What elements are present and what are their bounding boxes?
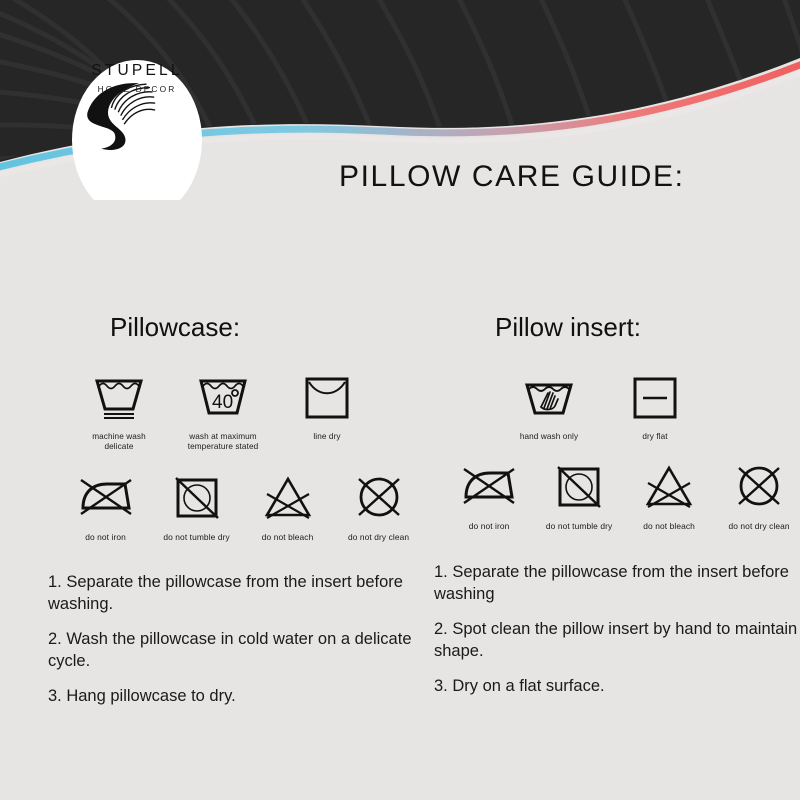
do-not-tumble-dry-icon xyxy=(552,463,606,509)
caption-do-not-iron: do not iron xyxy=(469,521,510,532)
caption-do-not-bleach: do not bleach xyxy=(643,521,695,532)
caption-hand-wash-only: hand wash only xyxy=(520,432,578,442)
do-not-tumble-dry-icon xyxy=(170,474,224,520)
do-not-iron-icon xyxy=(460,463,518,509)
page-title: PILLOW CARE GUIDE: xyxy=(339,160,685,194)
caption-do-not-tumble-dry: do not tumble dry xyxy=(546,521,612,532)
symbol-do-not-tumble-dry: do not tumble dry xyxy=(538,458,620,532)
symbol-do-not-bleach: do not bleach xyxy=(250,469,325,543)
symbol-do-not-iron: do not iron xyxy=(68,469,143,543)
step-item: 3. Hang pillowcase to dry. xyxy=(48,686,420,708)
step-item: 2. Wash the pillowcase in cold water on … xyxy=(48,629,420,673)
symbol-wash-40: 40 wash at maximumtemperature stated xyxy=(180,369,266,453)
pillow-insert-section: Pillow insert: xyxy=(430,312,800,710)
pillowcase-section: Pillowcase: machine washdelicate xyxy=(40,312,420,721)
do-not-bleach-icon xyxy=(642,463,696,509)
dry-flat-icon xyxy=(630,373,680,421)
section-heading-pillowcase: Pillowcase: xyxy=(40,312,420,343)
pillowcase-steps: 1. Separate the pillowcase from the inse… xyxy=(40,572,420,708)
caption-line-dry: line dry xyxy=(313,432,340,442)
symbol-do-not-tumble-dry: do not tumble dry xyxy=(155,469,238,543)
hand-wash-only-icon xyxy=(522,373,576,421)
pillow-insert-steps: 1. Separate the pillowcase from the inse… xyxy=(430,562,800,698)
do-not-bleach-icon xyxy=(261,474,315,520)
do-not-dry-clean-icon xyxy=(352,474,406,520)
symbol-do-not-bleach: do not bleach xyxy=(632,458,706,532)
svg-text:40: 40 xyxy=(212,392,233,413)
caption-do-not-tumble-dry: do not tumble dry xyxy=(163,532,229,543)
symbol-dry-flat: dry flat xyxy=(616,369,694,442)
caption-wash-40: wash at maximumtemperature stated xyxy=(188,432,259,453)
symbol-do-not-iron: do not iron xyxy=(452,458,526,532)
symbol-machine-wash-delicate: machine washdelicate xyxy=(80,369,158,453)
pillowcase-symbol-row-2: do not iron do not tumble dry xyxy=(40,469,420,543)
stupell-swoosh-logo-icon xyxy=(72,78,158,154)
caption-machine-wash-delicate: machine washdelicate xyxy=(92,432,146,453)
machine-wash-delicate-icon xyxy=(92,373,146,421)
insert-symbol-row-1: hand wash only dry flat xyxy=(430,369,800,442)
line-dry-icon xyxy=(302,373,352,421)
do-not-dry-clean-icon xyxy=(732,463,786,509)
symbol-line-dry: line dry xyxy=(288,369,366,442)
caption-dry-flat: dry flat xyxy=(642,432,667,442)
symbol-do-not-dry-clean: do not dry clean xyxy=(718,458,800,532)
symbol-hand-wash-only: hand wash only xyxy=(510,369,588,442)
wash-40-degrees-icon: 40 xyxy=(196,373,250,421)
step-item: 1. Separate the pillowcase from the inse… xyxy=(48,572,420,616)
caption-do-not-bleach: do not bleach xyxy=(262,532,314,543)
caption-do-not-iron: do not iron xyxy=(85,532,126,543)
symbol-do-not-dry-clean: do not dry clean xyxy=(337,469,420,543)
do-not-iron-icon xyxy=(77,474,135,520)
caption-do-not-dry-clean: do not dry clean xyxy=(348,532,409,543)
insert-symbol-row-2: do not iron do not tumble dry xyxy=(430,458,800,532)
pillowcase-symbol-row-1: machine washdelicate 40 wash at maximumt… xyxy=(40,369,420,453)
caption-do-not-dry-clean: do not dry clean xyxy=(728,521,789,532)
step-item: 3. Dry on a flat surface. xyxy=(434,676,800,698)
care-guide-page: STUPELL HOME DECOR PILLOW CARE GUIDE: Pi… xyxy=(0,0,800,800)
step-item: 2. Spot clean the pillow insert by hand … xyxy=(434,619,800,663)
step-item: 1. Separate the pillowcase from the inse… xyxy=(434,562,800,606)
section-heading-pillow-insert: Pillow insert: xyxy=(430,312,800,343)
